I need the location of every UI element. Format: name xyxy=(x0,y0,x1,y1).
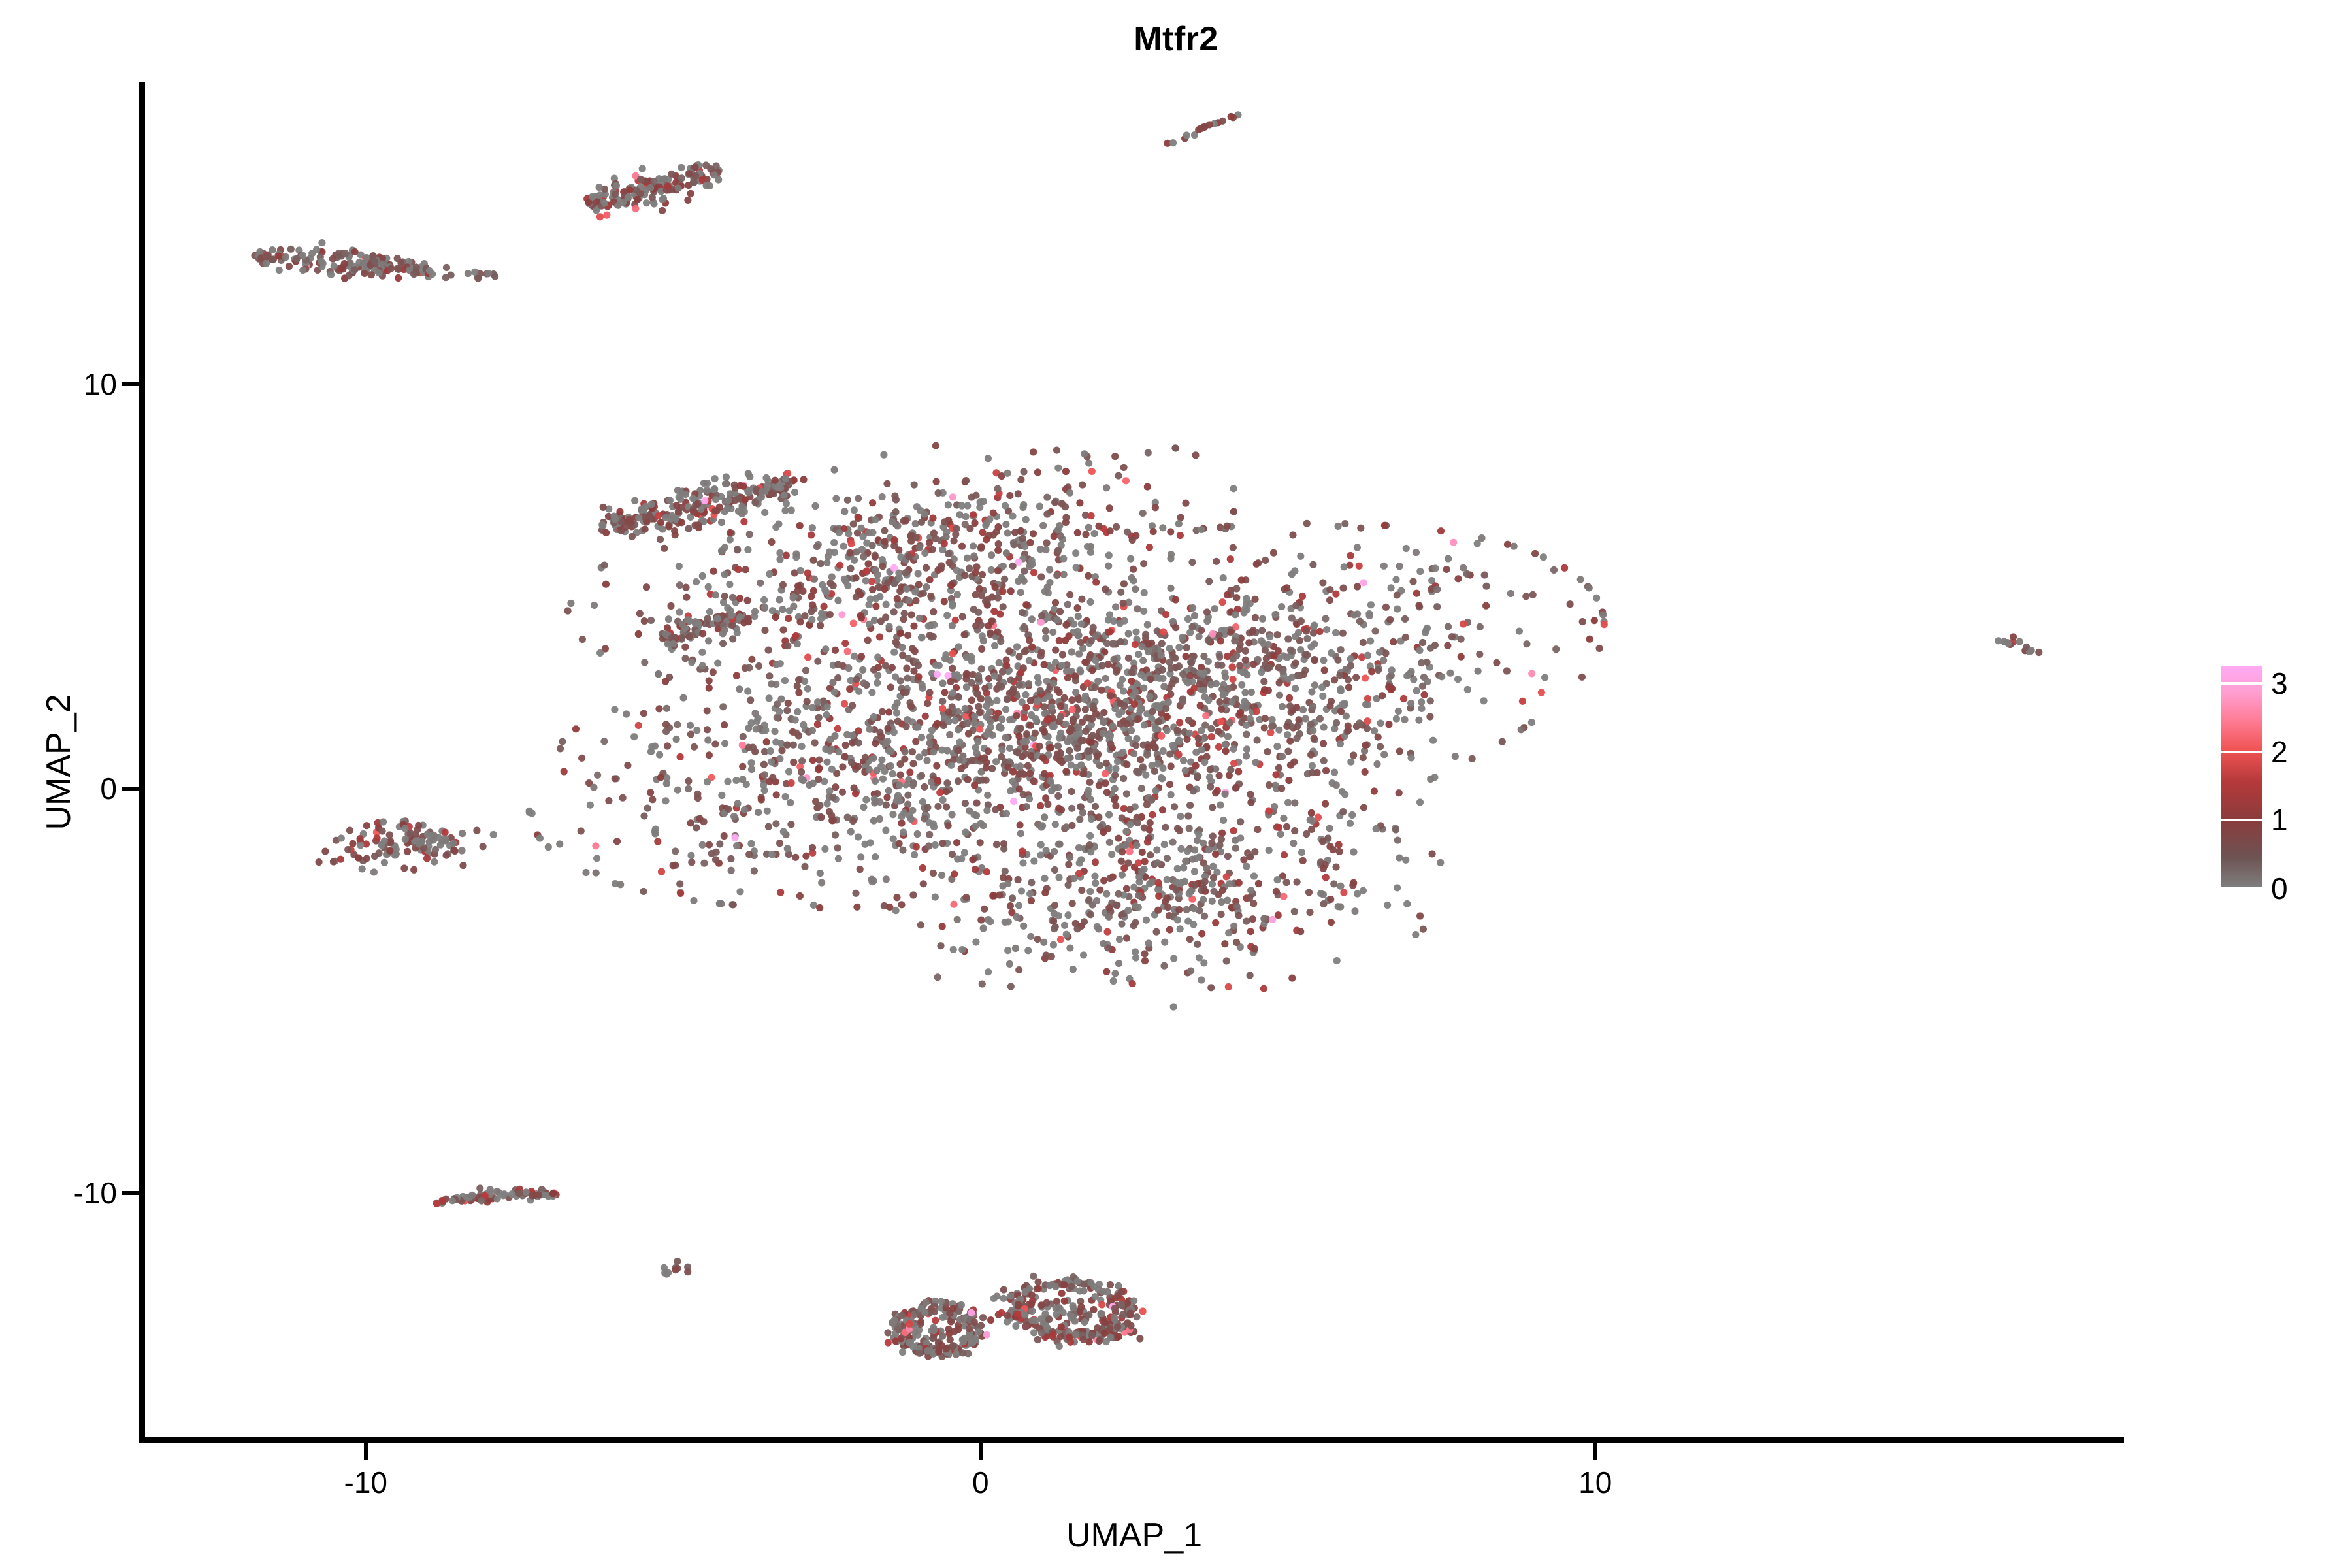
colorbar-tick-mark xyxy=(2221,887,2262,890)
colorbar-tick-mark xyxy=(2221,751,2262,753)
scatter-points-layer xyxy=(144,85,2124,1439)
y-tick-label: 0 xyxy=(100,771,117,806)
y-tick-label: -10 xyxy=(74,1175,117,1211)
scatter-plot-panel xyxy=(144,85,2124,1439)
colorbar-tick-label: 3 xyxy=(2271,666,2288,701)
x-tick-label: 10 xyxy=(1578,1465,1612,1500)
y-tick-label: 10 xyxy=(84,367,117,402)
colorbar-tick-label: 1 xyxy=(2271,802,2288,838)
y-tick-mark xyxy=(122,1191,139,1195)
x-axis-line xyxy=(139,1437,2124,1443)
x-tick-mark xyxy=(1593,1443,1597,1460)
y-axis-title: UMAP_2 xyxy=(39,694,78,830)
colorbar-tick-mark xyxy=(2221,682,2262,685)
y-axis-line xyxy=(139,82,145,1443)
x-axis-title: UMAP_1 xyxy=(144,1516,2124,1555)
x-tick-mark xyxy=(979,1443,983,1460)
y-tick-mark xyxy=(122,787,139,791)
colorbar-tick-mark xyxy=(2221,819,2262,821)
x-tick-label: -10 xyxy=(344,1465,387,1500)
y-tick-mark xyxy=(122,382,139,386)
feature-plot-figure: Mtfr2 -10010 100-10 UMAP_1 UMAP_2 3210 xyxy=(0,0,2352,1568)
colorbar-legend: 3210 xyxy=(2221,666,2345,889)
colorbar-tick-label: 0 xyxy=(2271,871,2288,906)
colorbar-gradient xyxy=(2221,666,2262,889)
page-title: Mtfr2 xyxy=(0,20,2352,59)
colorbar-tick-label: 2 xyxy=(2271,734,2288,770)
x-tick-label: 0 xyxy=(972,1465,989,1500)
x-tick-mark xyxy=(364,1443,368,1460)
